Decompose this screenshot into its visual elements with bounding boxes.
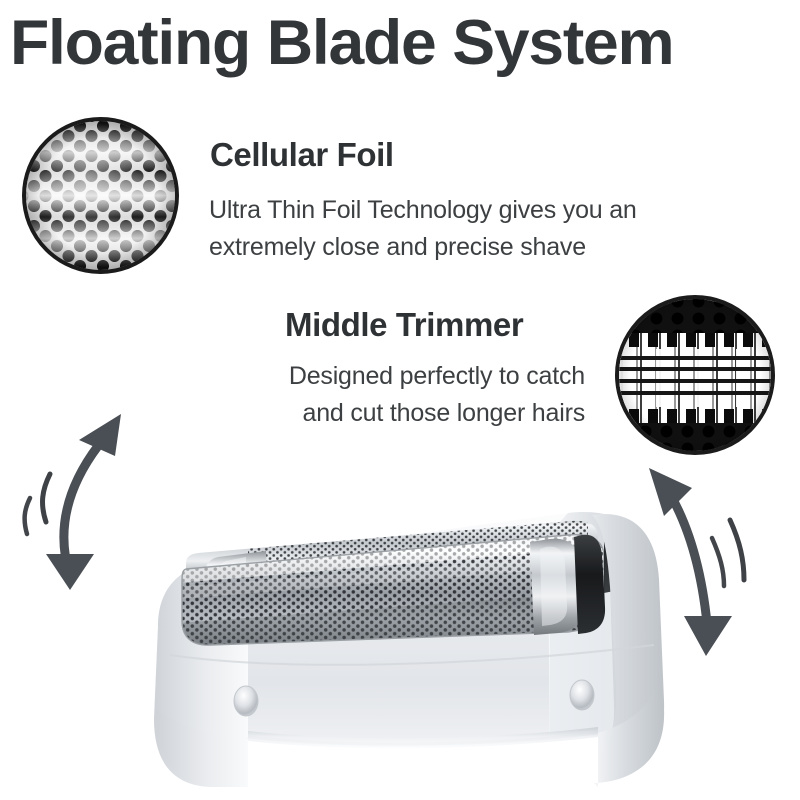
cellular-foil-closeup-image: cellular foil magnified mesh [22, 117, 179, 274]
trimmer-closeup-vignette [619, 299, 771, 451]
infographic-canvas: Floating Blade System cellular foil magn… [0, 0, 800, 800]
product-chrome-cap-right-highlight [540, 547, 567, 626]
feature-heading-cellular-foil: Cellular Foil [210, 136, 394, 174]
feature-heading-middle-trimmer: Middle Trimmer [285, 306, 523, 344]
middle-trimmer-closeup-image: middle trimmer magnified comb [615, 295, 775, 455]
feature-body-middle-trimmer: Designed perfectly to catch and cut thos… [180, 358, 585, 432]
foil-closeup-vignette [26, 121, 175, 270]
product-shaver-foil-cassette [98, 495, 698, 795]
feature-body-line: and cut those longer hairs [180, 395, 585, 432]
feature-body-line: extremely close and precise shave [209, 229, 639, 266]
feature-body-line: Designed perfectly to catch [180, 358, 585, 395]
product-rubber-ring-right [574, 535, 605, 634]
feature-body-cellular-foil: Ultra Thin Foil Technology gives you an … [209, 192, 639, 266]
feature-body-line: Ultra Thin Foil Technology gives you an [209, 192, 639, 229]
page-title: Floating Blade System [10, 6, 800, 80]
